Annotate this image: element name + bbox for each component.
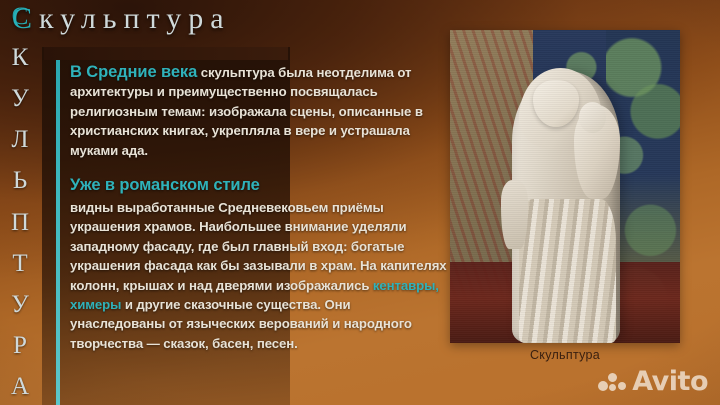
side-letter: У	[11, 86, 29, 111]
avito-watermark: Avito	[598, 368, 708, 395]
paragraph-1: В Средние века скульптура была неотделим…	[70, 62, 448, 160]
statue-drapery	[519, 199, 616, 343]
panel-top-bar	[44, 47, 288, 60]
statue-arm	[501, 180, 529, 249]
paragraph-2-heading: Уже в романском стиле	[70, 174, 448, 196]
side-letter: У	[11, 292, 29, 317]
paragraph-2-text-after: и другие сказочные существа. Они унаслед…	[70, 297, 412, 351]
slide-title: Скульптура	[12, 2, 231, 36]
paragraph-1-lead: В Средние века	[70, 63, 197, 81]
slide-canvas: С К У Л Ь П Т У Р А Скульптура В Средние…	[0, 0, 720, 405]
avito-wordmark: Avito	[632, 368, 708, 395]
vertical-side-word: С К У Л Ь П Т У Р А	[0, 0, 40, 405]
avito-dot	[598, 381, 608, 391]
side-letter: А	[11, 374, 29, 399]
side-letter: К	[12, 45, 29, 70]
avito-dot	[608, 373, 617, 382]
sculpture-photo-image	[450, 30, 680, 343]
side-letter: П	[11, 210, 29, 235]
avito-logo-icon	[598, 370, 628, 394]
side-letter: Л	[12, 127, 29, 152]
accent-vertical-bar	[56, 60, 60, 405]
title-rest: кульптура	[39, 2, 231, 35]
sculpture-photo	[450, 30, 680, 343]
side-letter: Ь	[13, 168, 27, 193]
side-letter: Р	[13, 333, 27, 358]
title-first-letter: С	[12, 2, 39, 35]
paragraph-2: видны выработанные Средневековьем приёмы…	[70, 198, 448, 353]
body-copy: В Средние века скульптура была неотделим…	[70, 62, 448, 355]
avito-dot	[618, 382, 626, 390]
side-letter: Т	[12, 251, 27, 276]
photo-caption: Скульптура	[450, 348, 680, 362]
avito-dot	[609, 384, 616, 391]
